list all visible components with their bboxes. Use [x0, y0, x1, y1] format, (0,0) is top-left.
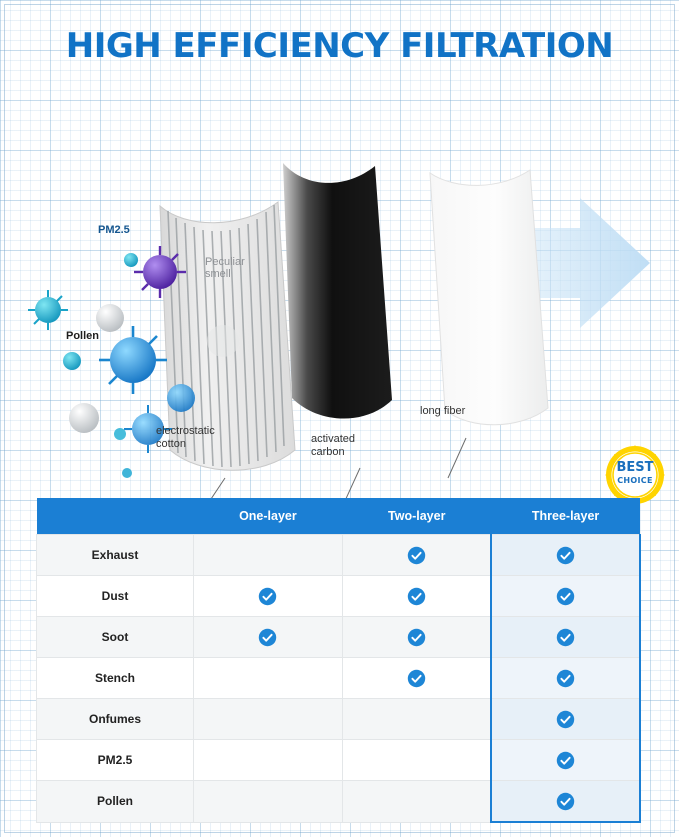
table-cell — [342, 576, 491, 617]
check-icon — [556, 546, 575, 565]
table-row: Pollen — [37, 781, 641, 823]
table-header-two-layer: Two-layer — [342, 498, 491, 535]
layer-label-electrostatic-cotton: electrostatic cotton — [156, 425, 215, 451]
check-icon — [556, 792, 575, 811]
table-row-label: Onfumes — [37, 699, 194, 740]
table-cell — [194, 658, 343, 699]
check-icon — [407, 669, 426, 688]
table-row-label: PM2.5 — [37, 740, 194, 781]
particle-label-peculiar-smell: Peculiar smell — [205, 256, 245, 280]
check-icon — [556, 628, 575, 647]
table-cell — [342, 699, 491, 740]
table-header-blank — [37, 498, 194, 535]
table-header-three-layer: Three-layer — [491, 498, 640, 535]
table-row: PM2.5 — [37, 740, 641, 781]
table-cell — [342, 658, 491, 699]
table-head: One-layer Two-layer Three-layer — [37, 498, 641, 535]
table-cell — [491, 535, 640, 576]
check-icon — [258, 587, 277, 606]
table-cell — [342, 740, 491, 781]
particle-label-pollen: Pollen — [66, 330, 99, 342]
check-icon — [407, 587, 426, 606]
table-cell — [342, 781, 491, 823]
best-choice-line2: CHOICE — [604, 474, 666, 487]
table-cell — [194, 576, 343, 617]
table-row-label: Dust — [37, 576, 194, 617]
table-header-one-layer: One-layer — [194, 498, 343, 535]
table-row-label: Exhaust — [37, 535, 194, 576]
table-cell — [491, 576, 640, 617]
table-row-label: Stench — [37, 658, 194, 699]
table-cell — [491, 740, 640, 781]
comparison-table-wrapper: One-layer Two-layer Three-layer ExhaustD… — [36, 498, 641, 823]
table-row: Dust — [37, 576, 641, 617]
table-row-label: Soot — [37, 617, 194, 658]
layer-label-activated-carbon: activated carbon — [311, 433, 355, 459]
table-cell — [491, 699, 640, 740]
check-icon — [556, 669, 575, 688]
table-cell — [491, 781, 640, 823]
page-title: HIGH EFFICIENCY FILTRATION — [0, 26, 679, 66]
table-row: Soot — [37, 617, 641, 658]
table-header-row: One-layer Two-layer Three-layer — [37, 498, 641, 535]
best-choice-text: BEST CHOICE — [604, 461, 666, 487]
best-choice-badge: BEST CHOICE — [604, 444, 666, 506]
table-cell — [491, 658, 640, 699]
filter-layers-illustration: PM2.5 Pollen Peculiar smell electrostati… — [0, 78, 679, 498]
table-cell — [194, 699, 343, 740]
check-icon — [407, 546, 426, 565]
best-choice-line1: BEST — [616, 460, 653, 475]
check-icon — [556, 710, 575, 729]
table-cell — [491, 617, 640, 658]
table-cell — [194, 740, 343, 781]
table-cell — [194, 617, 343, 658]
table-body: ExhaustDustSootStenchOnfumesPM2.5Pollen — [37, 535, 641, 823]
table-row: Exhaust — [37, 535, 641, 576]
check-icon — [258, 628, 277, 647]
check-icon — [407, 628, 426, 647]
particle-label-pm25: PM2.5 — [98, 224, 130, 236]
table-row: Stench — [37, 658, 641, 699]
table-cell — [342, 617, 491, 658]
comparison-table: One-layer Two-layer Three-layer ExhaustD… — [36, 498, 641, 823]
layer-label-long-fiber: long fiber — [420, 405, 465, 418]
table-cell — [342, 535, 491, 576]
check-icon — [556, 751, 575, 770]
layer-long-fiber — [430, 170, 548, 425]
table-cell — [194, 781, 343, 823]
table-cell — [194, 535, 343, 576]
table-row: Onfumes — [37, 699, 641, 740]
check-icon — [556, 587, 575, 606]
table-row-label: Pollen — [37, 781, 194, 823]
layer-activated-carbon — [283, 163, 392, 419]
